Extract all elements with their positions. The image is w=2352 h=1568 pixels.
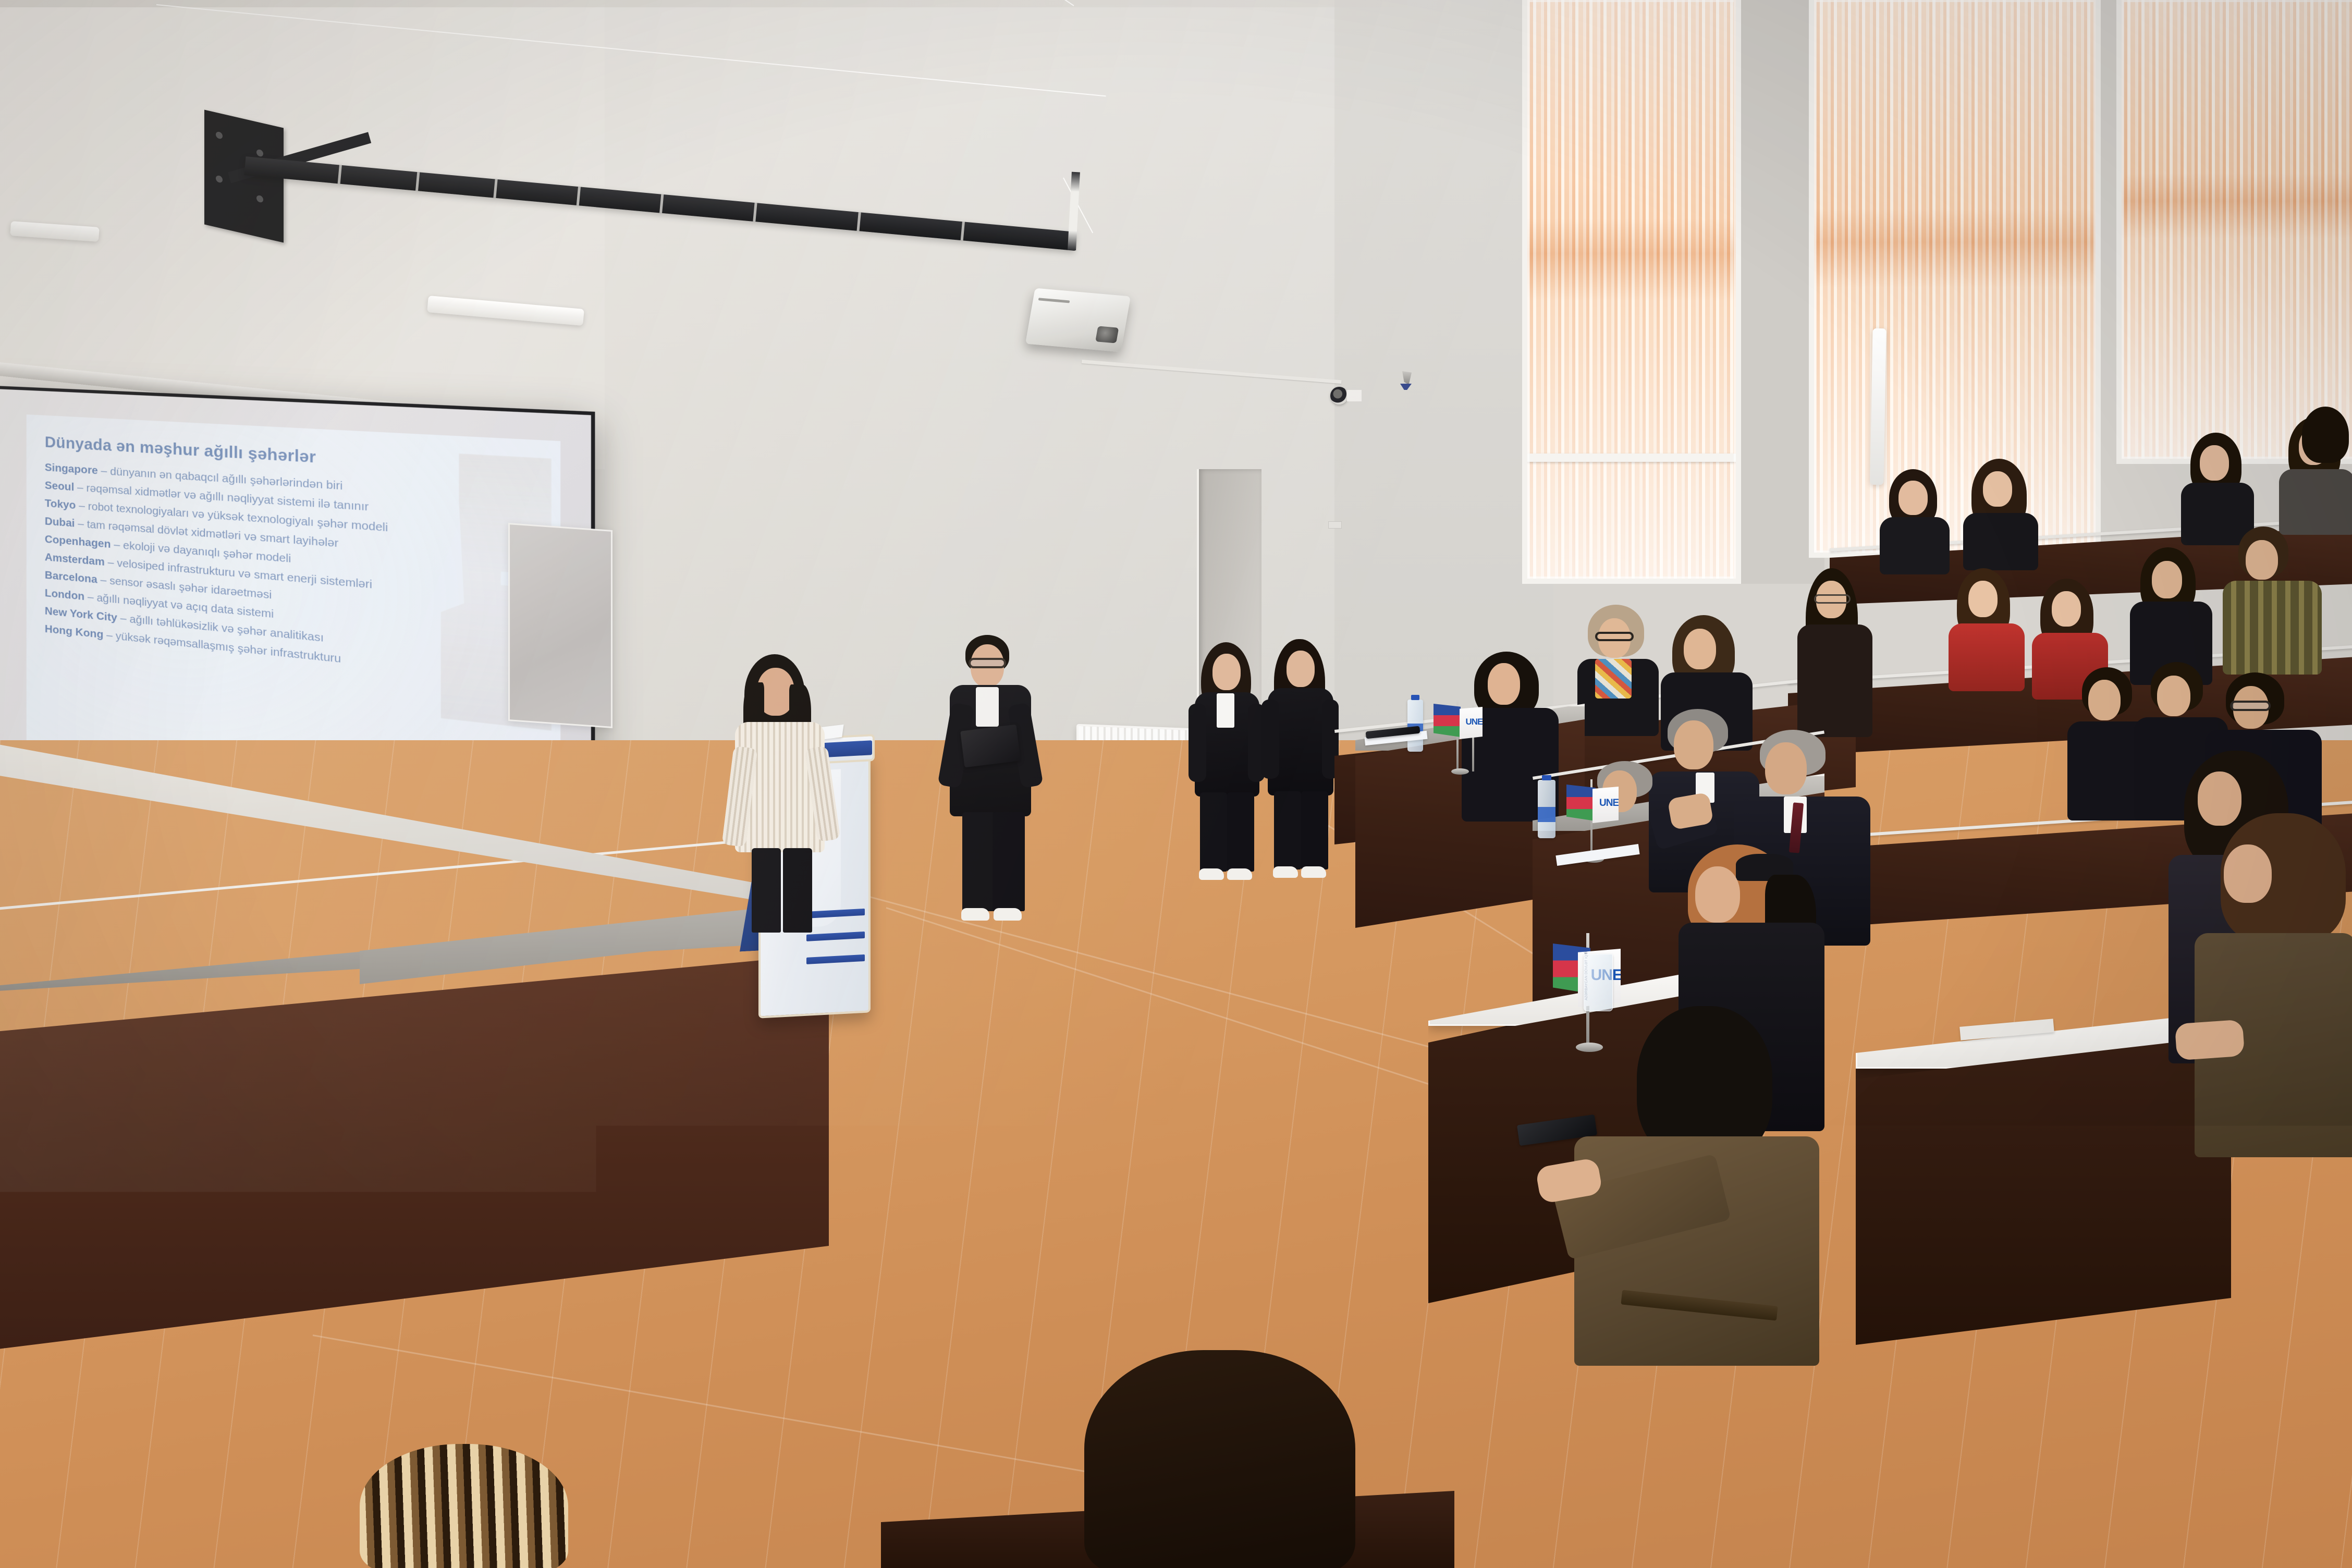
window-frame-left — [1522, 0, 1741, 584]
panel-man-2-head — [1765, 742, 1807, 794]
projector — [1025, 288, 1131, 352]
student-a-head — [1212, 654, 1241, 690]
audience-mid-red-1-head — [1968, 581, 1998, 617]
right-2-head — [2224, 844, 2272, 903]
flag-azerbaijan-panel — [1434, 704, 1461, 737]
student-b-shoe-right — [1301, 866, 1326, 878]
audience-mid-red-1 — [1944, 568, 2028, 688]
audience-back-2-head — [1983, 471, 2012, 507]
audience-back-2 — [1960, 459, 2043, 563]
right-2-hand — [2175, 1020, 2245, 1061]
student-b-arm-left — [1261, 700, 1279, 779]
audience-back-2-torso — [1963, 513, 2038, 570]
flag-azerbaijan-mid — [1566, 785, 1596, 821]
audience-back-3 — [2179, 433, 2257, 542]
panel-woman-head — [1488, 663, 1520, 705]
panel-man-1-head — [1674, 720, 1713, 769]
security-camera-icon — [1330, 387, 1348, 405]
student-a-leg-left — [1200, 792, 1227, 872]
flag-unec-panel: UNEC — [1460, 707, 1483, 739]
person-foreground-right — [1772, 1162, 2137, 1568]
audience-back-1-head — [1898, 481, 1928, 515]
window-frame-right — [2116, 0, 2352, 464]
student-b-leg-right — [1301, 791, 1328, 869]
foreground-center-hair — [1084, 1350, 1355, 1568]
front-black-head — [1695, 866, 1740, 923]
water-glass-front — [1584, 954, 1613, 1011]
audience-mid-red-2-head — [2052, 591, 2081, 627]
foreground-right-hair — [1772, 1162, 2137, 1568]
bottle-cap-panel — [1411, 695, 1419, 700]
flagstand-panel: UNEC — [1429, 699, 1487, 777]
observer-torso — [1797, 624, 1872, 737]
audience-back-5 — [2294, 407, 2352, 500]
window-left — [1522, 0, 1741, 584]
student-a-leg-right — [1227, 792, 1254, 872]
moderator-folder — [960, 725, 1021, 768]
projector-vent — [1038, 298, 1070, 303]
person-presenter — [725, 654, 839, 925]
moderator-shoe-left — [961, 908, 989, 921]
faculty-1-glasses-icon — [1595, 632, 1634, 641]
person-foreground-left — [360, 1444, 568, 1568]
moderator-leg-right — [993, 812, 1025, 911]
faculty-1-scarf — [1595, 659, 1632, 699]
person-standing-observer — [1793, 568, 1877, 740]
audience-back-1 — [1877, 469, 1955, 563]
window-frame-center — [1809, 0, 2101, 558]
unec-logo-mid: UNEC — [1599, 798, 1619, 809]
unec-logo-panel: UNEC — [1465, 717, 1483, 727]
audience-mid-plaid-head — [2246, 540, 2278, 580]
audience-front-m2-head — [2157, 676, 2190, 716]
bottle-label-mid — [1538, 807, 1555, 822]
window-right — [2116, 0, 2352, 464]
observer-glasses-icon — [1814, 594, 1851, 604]
audience-mid-plaid — [2221, 526, 2325, 683]
flag-base-panel — [1451, 768, 1469, 775]
projector-lens — [1095, 326, 1119, 343]
presenter-leg-left — [752, 848, 781, 933]
wall-board-panel — [508, 523, 612, 728]
person-student-b — [1260, 639, 1339, 880]
person-moderator — [944, 635, 1037, 927]
student-a-shirt — [1217, 693, 1234, 728]
audience-front-m3-glasses-icon — [2230, 701, 2271, 711]
moderator-shirt — [976, 687, 999, 727]
student-b-shoe-left — [1273, 866, 1298, 878]
student-a-arm-left — [1189, 704, 1206, 782]
person-right-2 — [2179, 813, 2352, 1168]
audience-front-m1-head — [2088, 680, 2121, 720]
audience-mid-dark-head — [2152, 561, 2182, 598]
student-a-shoe-right — [1227, 868, 1252, 880]
student-b-leg-left — [1274, 791, 1301, 869]
tube-light-vertical — [1870, 328, 1886, 485]
moderator-glasses-icon — [969, 658, 1006, 668]
ceiling-edge — [0, 0, 1407, 7]
audience-back-5-hair — [2302, 407, 2349, 463]
faculty-2-head — [1684, 629, 1716, 669]
moderator-shoe-right — [994, 908, 1022, 921]
audience-back-3-head — [2200, 445, 2229, 481]
flag-unec-mid: UNEC — [1592, 787, 1619, 823]
presenter-leg-right — [783, 848, 812, 933]
camera-mount-tab — [1347, 390, 1362, 401]
bottle-cap-mid — [1542, 775, 1551, 780]
audience-mid-plaid-torso — [2223, 581, 2322, 675]
audience-mid-red-1-torso — [1949, 623, 2025, 691]
foreground-left-hair — [360, 1444, 568, 1568]
person-student-a — [1187, 642, 1266, 882]
student-b-head — [1287, 651, 1315, 687]
audience-back-1-torso — [1880, 517, 1950, 574]
person-foreground-center — [1084, 1350, 1355, 1568]
moderator-leg-left — [962, 812, 995, 911]
lecture-hall-photo: Dünyada ən məşhur ağıllı şəhərlər Singap… — [0, 0, 2352, 1568]
wall-socket-plate — [1328, 521, 1342, 529]
window-center — [1809, 0, 2101, 558]
student-a-shoe-left — [1199, 868, 1224, 880]
water-bottle-mid — [1538, 780, 1555, 838]
water-bottle-panel — [1407, 700, 1423, 752]
